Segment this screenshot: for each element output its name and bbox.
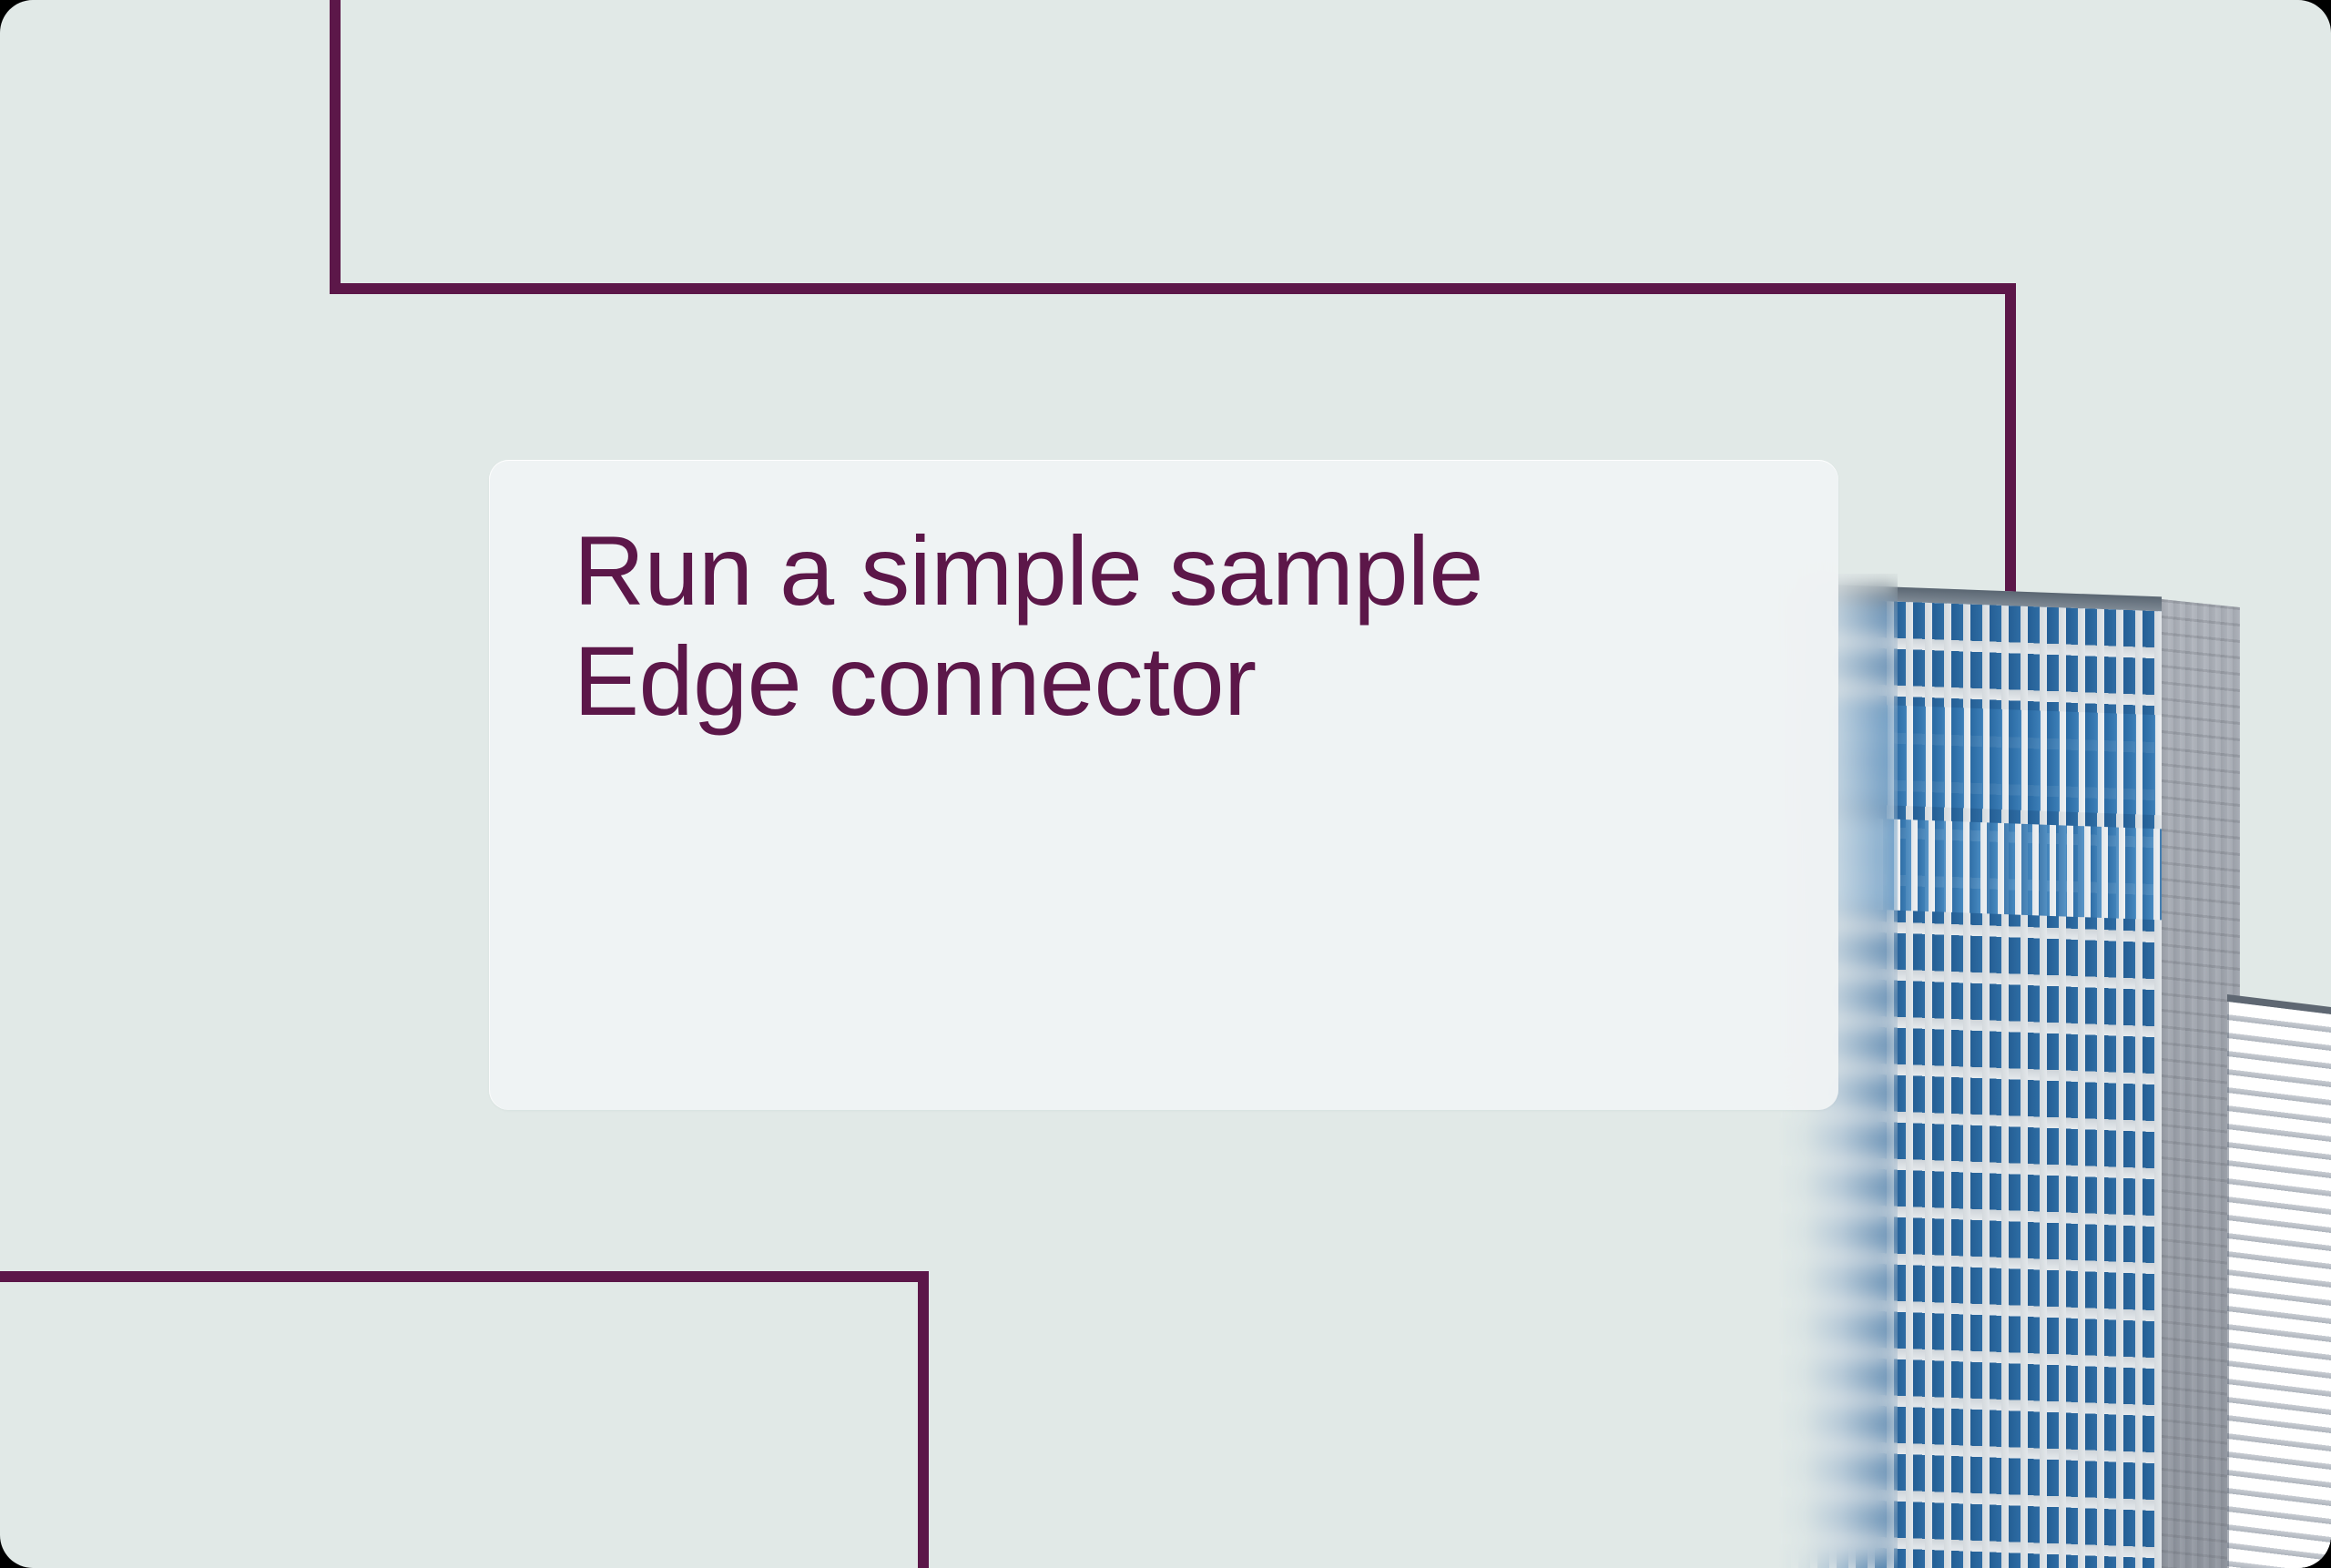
connector-line-bottom-horizontal bbox=[0, 1271, 929, 1282]
building-photo-inner bbox=[1779, 574, 2331, 1568]
slide-canvas: Run a simple sample Edge connector bbox=[0, 0, 2331, 1568]
connector-line-top-vertical bbox=[330, 0, 341, 294]
building-photo bbox=[1779, 574, 2331, 1568]
headline-card-body: Run a simple sample Edge connector bbox=[574, 516, 1784, 737]
headline-card: Run a simple sample Edge connector bbox=[489, 460, 1838, 1110]
connector-line-right-vertical bbox=[2005, 283, 2016, 597]
page-title: Run a simple sample Edge connector bbox=[574, 516, 1784, 737]
connector-line-top-horizontal bbox=[330, 283, 2016, 294]
connector-line-bottom-vertical bbox=[918, 1271, 929, 1568]
white-building bbox=[2227, 1002, 2331, 1568]
